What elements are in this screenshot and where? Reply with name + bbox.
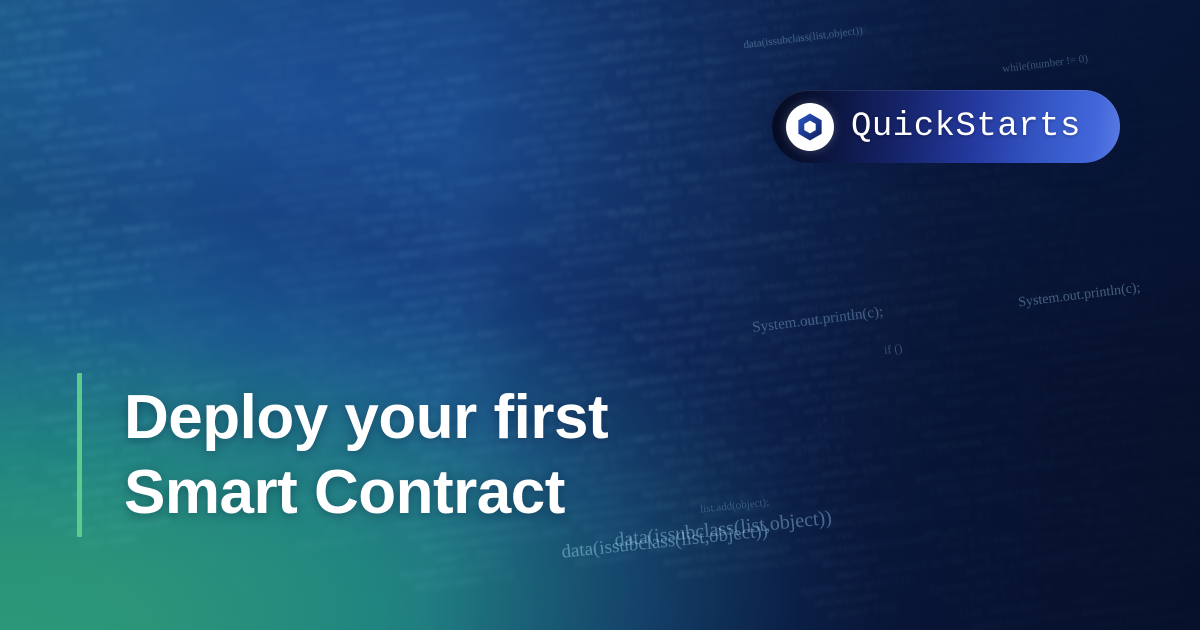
quickstarts-hero-banner: System.o for (int i = list.add(object); … <box>0 0 1200 630</box>
green-accent-bar <box>77 373 82 537</box>
page-title: Deploy your first Smart Contract <box>124 380 608 530</box>
headline-line-2: Smart Contract <box>124 455 608 530</box>
quickstarts-badge[interactable]: QuickStarts <box>772 90 1120 163</box>
badge-label: QuickStarts <box>851 108 1081 146</box>
chainlink-hexagon-logo-icon <box>786 103 834 151</box>
headline-block: Deploy your first Smart Contract <box>77 373 608 537</box>
headline-line-1: Deploy your first <box>124 380 608 455</box>
